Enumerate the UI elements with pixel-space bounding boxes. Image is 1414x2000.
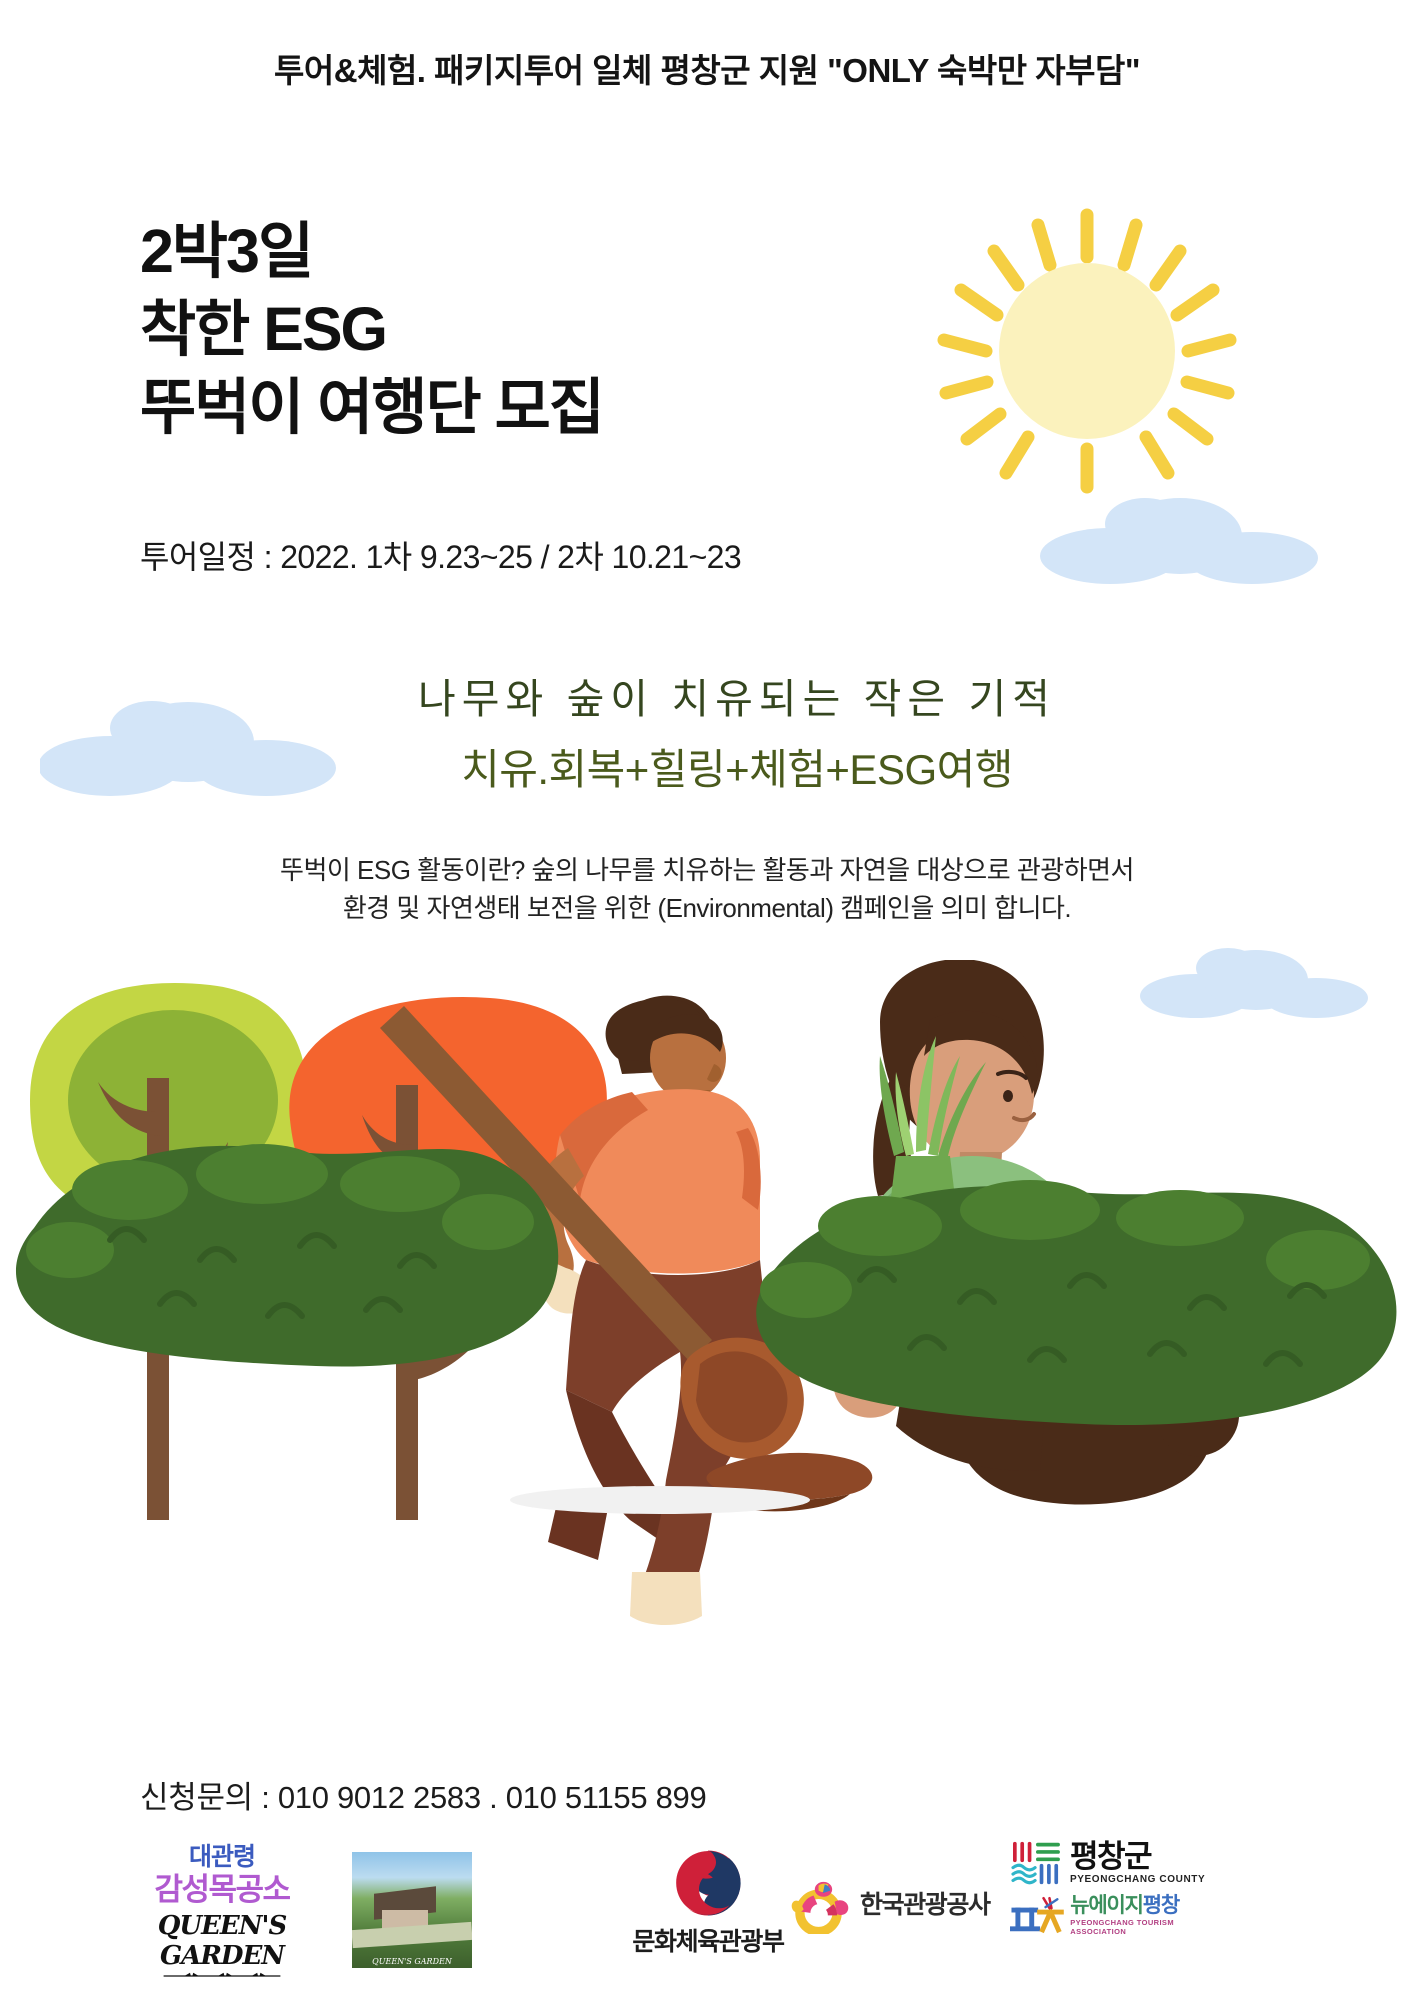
pyeongchang-tourism-text: 뉴에이지평창 PYEONGCHANG TOURISM ASSOCIATION	[1070, 1895, 1230, 1936]
logo-photo-thumbnail: QUEEN'S GARDEN	[352, 1852, 472, 1968]
headline-line-3: 뚜벅이 여행단 모집	[140, 368, 603, 446]
description-block: 뚜벅이 ESG 활동이란? 숲의 나무를 치유하는 활동과 자연을 대상으로 관…	[0, 852, 1414, 927]
mcst-label: 문화체육관광부	[598, 1922, 818, 1958]
pc-county-en: PYEONGCHANG COUNTY	[1070, 1874, 1205, 1885]
photo-path-shape	[352, 1922, 472, 1948]
qg-script-text: QUEEN'S GARDEN	[142, 1911, 302, 1971]
cloud-top-right	[1040, 490, 1330, 585]
photo-caption: QUEEN'S GARDEN	[352, 1957, 472, 1966]
qg-line-2: 감성목공소	[142, 1872, 302, 1908]
poster-headline: 2박3일 착한 ESG 뚜벅이 여행단 모집	[140, 212, 603, 446]
pyeongchang-county-text: 평창군 PYEONGCHANG COUNTY	[1070, 1841, 1205, 1885]
pta-kr-a: 뉴에이지	[1070, 1894, 1142, 1917]
sun-illustration	[880, 205, 1300, 505]
logo-row: 대관령 감성목공소 QUEEN'S GARDEN QUEEN'S GARDEN	[0, 1838, 1414, 1988]
logo-pyeongchang-group: 평창군 PYEONGCHANG COUNTY	[1010, 1840, 1230, 1936]
pyeongchang-county-mark-icon	[1010, 1840, 1062, 1886]
kto-mark-icon	[790, 1872, 852, 1934]
pta-en-line: PYEONGCHANG TOURISM ASSOCIATION	[1070, 1918, 1230, 1936]
pta-kr-line: 뉴에이지평창	[1070, 1895, 1230, 1916]
pta-kr-b: 평창	[1143, 1894, 1179, 1917]
pyeongchang-tourism-mark-icon	[1010, 1896, 1065, 1936]
headline-line-2: 착한 ESG	[140, 290, 603, 368]
poster-root: 투어&체험. 패키지투어 일체 평창군 지원 "ONLY 숙박만 자부담"	[0, 0, 1414, 2000]
vine-icon	[147, 1972, 297, 1980]
bush-left	[16, 1144, 558, 1367]
main-illustration	[0, 960, 1414, 1790]
headline-line-1: 2박3일	[140, 212, 603, 290]
description-line-2: 환경 및 자연생태 보전을 위한 (Environmental) 캠페인을 의미…	[0, 890, 1414, 928]
kto-label: 한국관광공사	[860, 1885, 990, 1921]
shoe	[630, 1572, 702, 1625]
contact-text: 신청문의 : 010 9012 2583 . 010 51155 899	[140, 1772, 706, 1817]
logo-ministry-culture-sports-tourism: 문화체육관광부	[598, 1846, 818, 1958]
slogan-line-1: 나무와 숲이 치유되는 작은 기적	[0, 665, 1414, 725]
tour-date-text: 투어일정 : 2022. 1차 9.23~25 / 2차 10.21~23	[140, 532, 741, 578]
logo-pyeongchang-tourism-association: 뉴에이지평창 PYEONGCHANG TOURISM ASSOCIATION	[1010, 1895, 1230, 1936]
qg-line-1: 대관령	[142, 1844, 302, 1872]
logo-pyeongchang-county: 평창군 PYEONGCHANG COUNTY	[1010, 1840, 1230, 1886]
pc-county-kr: 평창군	[1070, 1841, 1205, 1872]
taeguk-icon	[671, 1846, 745, 1920]
top-banner-text: 투어&체험. 패키지투어 일체 평창군 지원 "ONLY 숙박만 자부담"	[0, 44, 1414, 92]
logo-queens-garden: 대관령 감성목공소 QUEEN'S GARDEN	[142, 1844, 302, 1980]
bush-right	[756, 1180, 1396, 1425]
description-line-1: 뚜벅이 ESG 활동이란? 숲의 나무를 치유하는 활동과 자연을 대상으로 관…	[0, 852, 1414, 890]
slogan-line-2: 치유.회복+힐링+체험+ESG여행	[0, 736, 1414, 797]
